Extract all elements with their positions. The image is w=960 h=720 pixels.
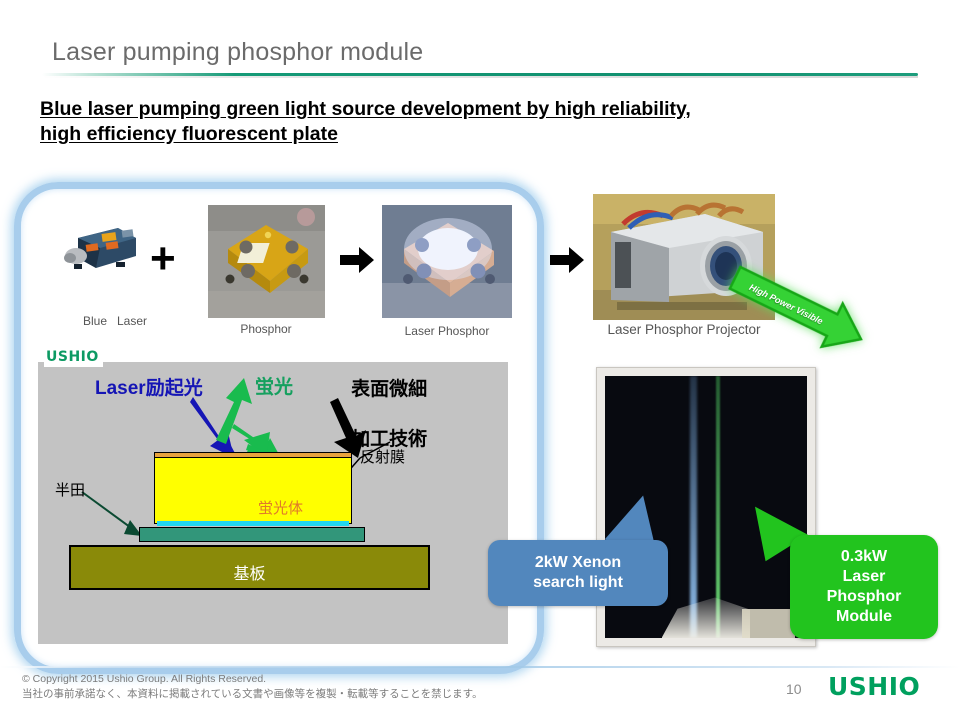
xenon-beam <box>690 376 697 638</box>
laser-excitation-label: Laser励起光 <box>95 373 203 400</box>
reflective-film-label: 反射膜 <box>360 446 405 467</box>
title-divider-shadow <box>42 76 918 78</box>
xenon-callout-line-2: search light <box>533 574 623 591</box>
solder-label: 半田 <box>55 479 85 500</box>
reflective-film-layer <box>157 521 349 526</box>
laser-phosphor-photo <box>382 205 512 318</box>
slide-root: Laser pumping phosphor module Blue laser… <box>0 0 960 720</box>
page-number: 10 <box>786 681 802 697</box>
copyright-text: © Copyright 2015 Ushio Group. All Rights… <box>22 673 266 685</box>
plus-icon: + <box>150 241 176 277</box>
xenon-callout[interactable]: 2kW Xenon search light <box>488 540 668 606</box>
ushio-logo: USHIO <box>828 672 920 701</box>
flow-arrow-icon-1 <box>340 247 374 273</box>
footer-copyright: © Copyright 2015 Ushio Group. All Rights… <box>22 672 483 702</box>
phosphor-block <box>154 458 352 524</box>
footer-divider <box>0 666 960 668</box>
beam-ground-object <box>662 591 751 638</box>
phosphor-body-label: 蛍光体 <box>258 497 303 518</box>
laser-module-callout-line-3: Phosphor <box>827 588 902 605</box>
phosphor-photo <box>208 205 325 318</box>
xenon-callout-line-1: 2kW Xenon <box>535 554 621 571</box>
surface-processing-line-1: 表面微細 <box>351 379 427 400</box>
subtitle-line-2: high efficiency fluorescent plate <box>40 123 338 145</box>
blue-laser-label: Blue Laser <box>55 314 175 328</box>
blue-laser-photo <box>60 222 140 274</box>
japanese-notice-text: 当社の事前承諾なく、本資料に掲載されている文書や画像等を複製・転載等することを禁… <box>22 688 483 700</box>
laser-module-callout-line-1: 0.3kW <box>841 548 887 565</box>
beam-ground-object-2 <box>742 609 795 638</box>
phosphor-label: Phosphor <box>200 322 332 336</box>
subtitle-line-1: Blue laser pumping green light source de… <box>40 98 691 120</box>
laser-module-callout[interactable]: 0.3kW Laser Phosphor Module <box>790 535 938 639</box>
subtitle: Blue laser pumping green light source de… <box>40 97 920 147</box>
page-title: Laser pumping phosphor module <box>52 38 423 67</box>
laser-phosphor-label: Laser Phosphor <box>380 324 514 338</box>
laser-module-callout-line-2: Laser <box>843 568 886 585</box>
fluorescence-label: 蛍光 <box>255 372 293 399</box>
substrate-label: 基板 <box>69 560 430 584</box>
solder-layer <box>139 527 365 542</box>
laser-module-callout-line-4: Module <box>836 608 892 625</box>
flow-arrow-icon-2 <box>550 247 584 273</box>
